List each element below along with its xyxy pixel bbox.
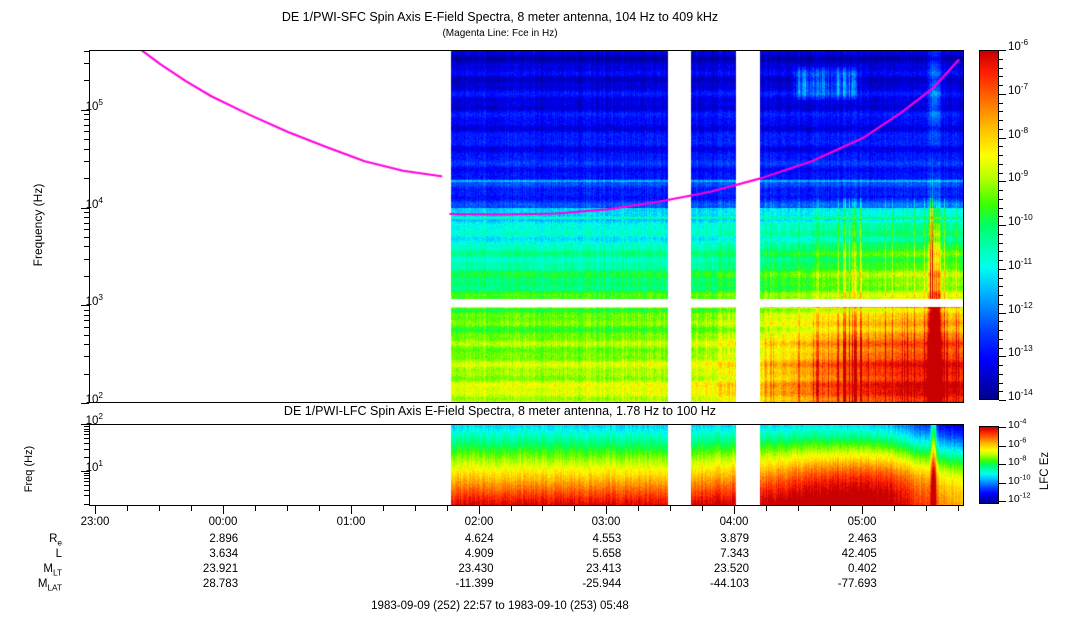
ephemeris-value: 4.553 (551, 533, 621, 545)
ephemeris-value: 23.520 (679, 563, 749, 575)
ephemeris-value: -25.944 (551, 578, 621, 590)
ephemeris-value: 3.879 (679, 533, 749, 545)
ephemeris-value: 23.430 (424, 563, 494, 575)
ephemeris-value: -44.103 (679, 578, 749, 590)
ephemeris-value: 5.658 (551, 548, 621, 560)
ephemeris-value: -77.693 (807, 578, 877, 590)
ephem-label-sub: LT (53, 568, 62, 577)
ephemeris-row-label-L: L (0, 548, 62, 560)
ephemeris-value: 42.405 (807, 548, 877, 560)
ephemeris-value: 0.402 (807, 563, 877, 575)
ephemeris-value: 23.921 (168, 563, 238, 575)
ephemeris-row-label-MLAT: MLAT (0, 578, 62, 590)
ephem-label-base: M (43, 563, 53, 575)
ephem-label-sub: LAT (47, 583, 62, 592)
footer-date-range: 1983-09-09 (252) 22:57 to 1983-09-10 (25… (0, 600, 1000, 612)
ephemeris-value: 4.909 (424, 548, 494, 560)
ephemeris-row-label-MLT: MLT (0, 563, 62, 575)
ephemeris-value: 2.896 (168, 533, 238, 545)
ephemeris-row-label-Re: Re (0, 533, 62, 545)
ephem-label-base: M (38, 578, 48, 590)
ephemeris-value: 4.624 (424, 533, 494, 545)
ephemeris-value: 3.634 (168, 548, 238, 560)
ephemeris-value: 7.343 (679, 548, 749, 560)
ephemeris-value: 28.783 (168, 578, 238, 590)
ephemeris-table: Re2.8964.6244.5533.8792.463L3.6344.9095.… (0, 0, 1083, 620)
ephemeris-value: 2.463 (807, 533, 877, 545)
ephem-label-sub: e (57, 538, 62, 547)
ephemeris-value: -11.399 (424, 578, 494, 590)
ephem-label-base: L (56, 548, 62, 560)
ephemeris-value: 23.413 (551, 563, 621, 575)
